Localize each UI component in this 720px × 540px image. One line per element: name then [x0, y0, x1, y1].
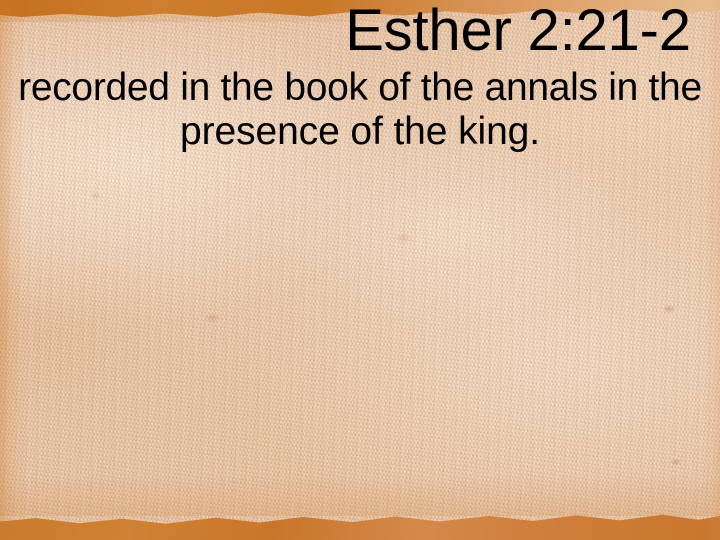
- slide-title: Esther 2:21-2: [0, 0, 720, 62]
- slide-body-line-1: recorded in the book of the annals in th…: [0, 66, 720, 110]
- slide-canvas: Esther 2:21-2 recorded in the book of th…: [0, 0, 720, 540]
- slide-body-line-2: presence of the king.: [0, 110, 720, 154]
- slide-body: recorded in the book of the annals in th…: [0, 66, 720, 154]
- bottom-border-fade: [0, 474, 720, 516]
- bottom-border-band: [0, 512, 720, 540]
